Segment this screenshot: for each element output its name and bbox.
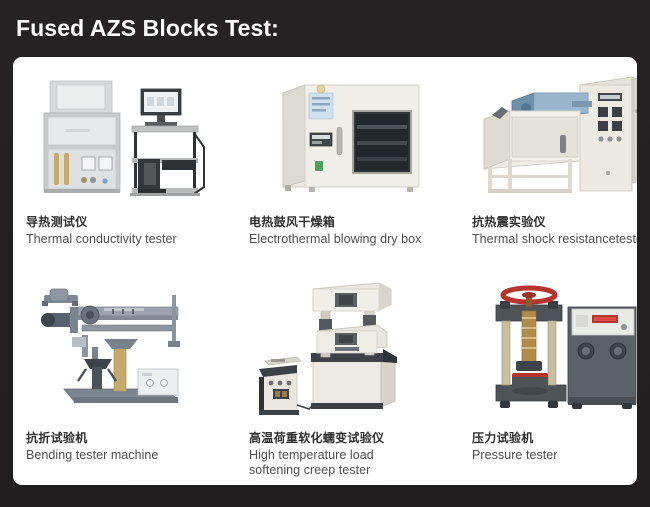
bending-tester-machine-photo [26, 277, 226, 427]
caption-en-line: Electrothermal blowing dry box [249, 232, 449, 247]
caption-en: High temperature load softening creep te… [249, 448, 449, 479]
caption-cn: 抗折试验机 [26, 431, 226, 446]
equipment-card-high-temperature-load-softening-creep-tester[interactable]: 高温荷重软化蠕变试验仪 High temperature load soften… [236, 271, 459, 485]
caption-en: Pressure tester [472, 448, 637, 463]
caption-en-line: Pressure tester [472, 448, 637, 463]
caption-cn: 高温荷重软化蠕变试验仪 [249, 431, 449, 446]
caption-en-line: Thermal shock resistancetester [472, 232, 637, 247]
thermal-shock-resistance-tester-photo [472, 63, 637, 211]
thermal-conductivity-tester-photo [26, 63, 226, 211]
equipment-card-thermal-conductivity-tester[interactable]: 导热测试仪 Thermal conductivity tester [13, 57, 236, 271]
caption-cn: 导热测试仪 [26, 215, 226, 230]
page-title: Fused AZS Blocks Test: [16, 15, 279, 42]
caption-en: Thermal shock resistancetester [472, 232, 637, 247]
caption-en: Thermal conductivity tester [26, 232, 226, 247]
electrothermal-blowing-dry-box-photo [249, 63, 449, 211]
caption-en: Electrothermal blowing dry box [249, 232, 449, 247]
equipment-caption: 抗热震实验仪 Thermal shock resistancetester [472, 215, 637, 247]
equipment-card-electrothermal-blowing-dry-box[interactable]: 电热鼓风干燥箱 Electrothermal blowing dry box [236, 57, 459, 271]
equipment-card-pressure-tester[interactable]: 压力试验机 Pressure tester [459, 271, 637, 485]
equipment-grid: 导热测试仪 Thermal conductivity tester [13, 57, 637, 485]
caption-en-line: softening creep tester [249, 463, 449, 478]
equipment-card-bending-tester-machine[interactable]: 抗折试验机 Bending tester machine [13, 271, 236, 485]
equipment-caption: 导热测试仪 Thermal conductivity tester [26, 215, 226, 247]
equipment-card-thermal-shock-resistance-tester[interactable]: 抗热震实验仪 Thermal shock resistancetester [459, 57, 637, 271]
caption-cn: 压力试验机 [472, 431, 637, 446]
caption-en-line: Bending tester machine [26, 448, 226, 463]
caption-en: Bending tester machine [26, 448, 226, 463]
equipment-caption: 电热鼓风干燥箱 Electrothermal blowing dry box [249, 215, 449, 247]
equipment-caption: 抗折试验机 Bending tester machine [26, 431, 226, 463]
slide-root: Fused AZS Blocks Test: [0, 0, 650, 507]
caption-en-line: High temperature load [249, 448, 449, 463]
equipment-panel: 导热测试仪 Thermal conductivity tester [13, 57, 637, 485]
equipment-caption: 压力试验机 Pressure tester [472, 431, 637, 463]
caption-cn: 电热鼓风干燥箱 [249, 215, 449, 230]
caption-en-line: Thermal conductivity tester [26, 232, 226, 247]
pressure-tester-photo [472, 277, 637, 427]
equipment-caption: 高温荷重软化蠕变试验仪 High temperature load soften… [249, 431, 449, 478]
caption-cn: 抗热震实验仪 [472, 215, 637, 230]
high-temperature-load-softening-creep-tester-photo [249, 277, 449, 427]
